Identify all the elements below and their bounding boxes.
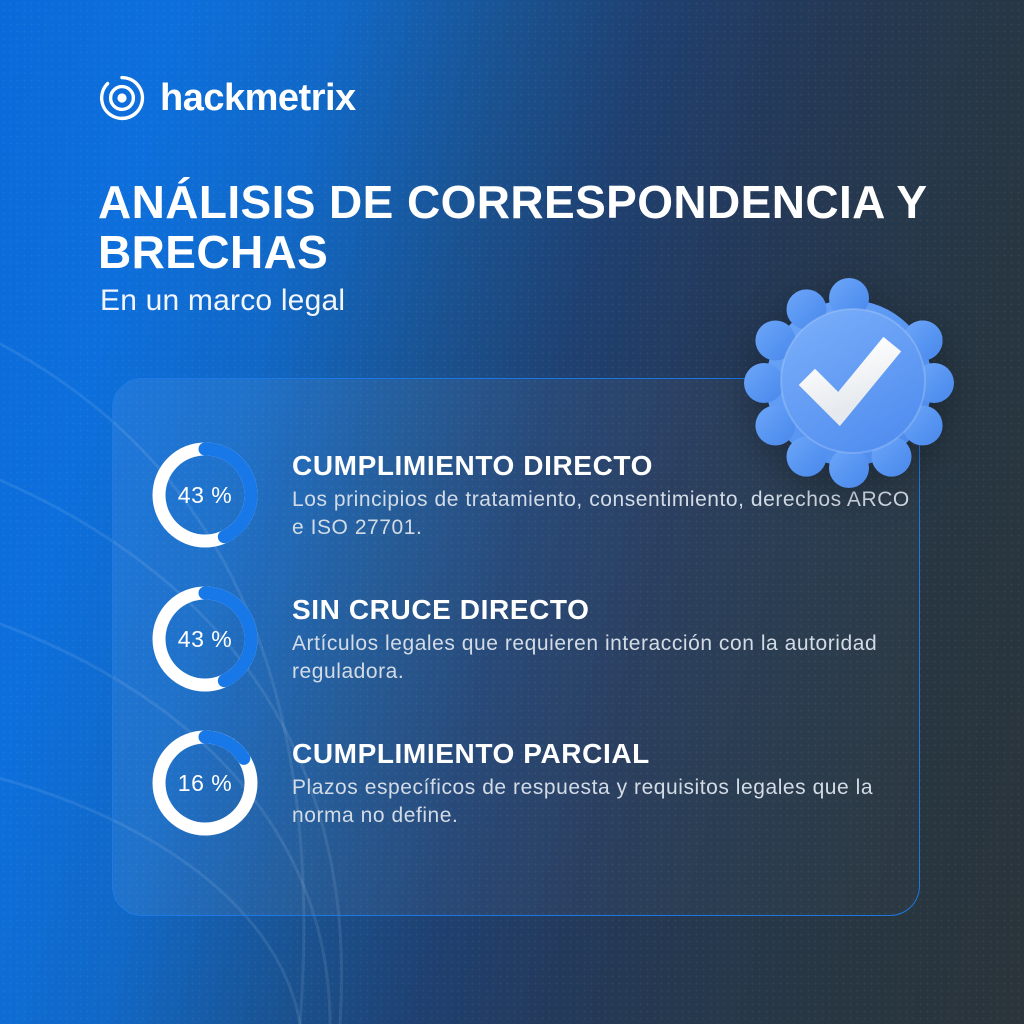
donut-percent-label: 43 % — [146, 580, 264, 698]
list-item: 16 % CUMPLIMIENTO PARCIAL Plazos específ… — [146, 724, 936, 842]
stat-description: Plazos específicos de respuesta y requis… — [292, 774, 922, 829]
donut-percent-label: 43 % — [146, 436, 264, 554]
page-title: ANÁLISIS DE CORRESPONDENCIA Y BRECHAS — [98, 178, 938, 277]
brand-name: hackmetrix — [160, 79, 356, 117]
page-subtitle: En un marco legal — [100, 284, 345, 318]
donut-percent-label: 16 % — [146, 724, 264, 842]
stats-list: 43 % CUMPLIMIENTO DIRECTO Los principios… — [146, 436, 936, 842]
stat-title: SIN CRUCE DIRECTO — [292, 594, 922, 626]
target-circle-icon — [98, 74, 146, 122]
brand-logo: hackmetrix — [98, 74, 356, 122]
infographic-canvas: hackmetrix ANÁLISIS DE CORRESPONDENCIA Y… — [0, 0, 1024, 1024]
stat-description: Artículos legales que requieren interacc… — [292, 630, 922, 685]
stat-title: CUMPLIMIENTO PARCIAL — [292, 738, 922, 770]
donut-chart-1: 43 % — [146, 436, 264, 554]
donut-chart-3: 16 % — [146, 724, 264, 842]
list-item: 43 % SIN CRUCE DIRECTO Artículos legales… — [146, 580, 936, 698]
verified-check-badge-icon — [742, 276, 956, 490]
donut-chart-2: 43 % — [146, 580, 264, 698]
stat-description: Los principios de tratamiento, consentim… — [292, 486, 922, 541]
